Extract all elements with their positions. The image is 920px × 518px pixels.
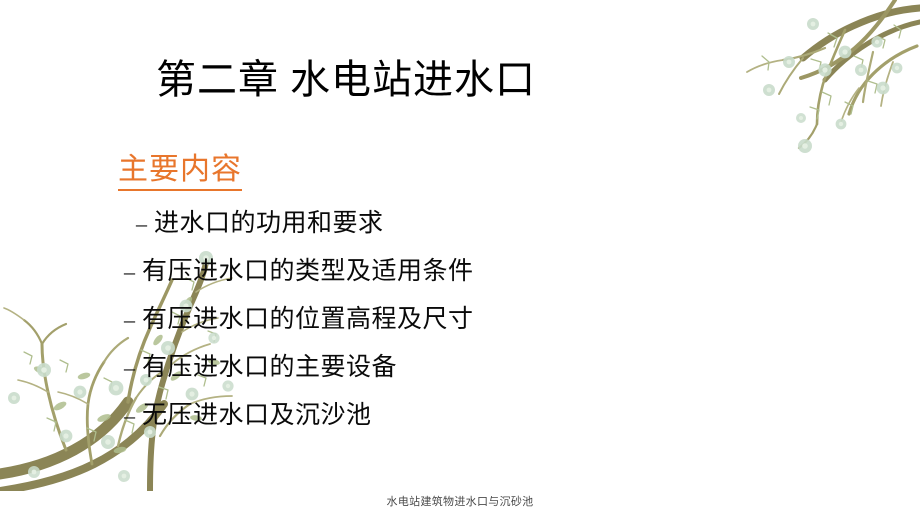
content-bullet-list: – 进水口的功用和要求 – 有压进水口的类型及适用条件 – 有压进水口的位置高程… [124,211,644,451]
list-item-label: 无压进水口及沉沙池 [142,403,372,428]
section-heading-main-content: 主要内容 [118,152,242,191]
list-item: – 进水口的功用和要求 [124,211,644,259]
footer-strip: 水电站建筑物进水口与沉砂池 [0,491,920,518]
branch-blossom-icon-top-right [725,0,920,170]
list-item: – 有压进水口的主要设备 [124,355,644,403]
footer-caption: 水电站建筑物进水口与沉砂池 [0,493,920,509]
list-item: – 有压进水口的位置高程及尺寸 [124,307,644,355]
list-item: – 无压进水口及沉沙池 [124,403,644,451]
list-item: – 有压进水口的类型及适用条件 [124,259,644,307]
presentation-slide-page: 第二章 水电站进水口 主要内容 – 进水口的功用和要求 – 有压进水口的类型及适… [0,0,920,518]
slide-canvas: 第二章 水电站进水口 主要内容 – 进水口的功用和要求 – 有压进水口的类型及适… [0,0,920,491]
dash-bullet-icon: – [136,213,147,235]
list-item-label: 进水口的功用和要求 [154,211,384,236]
dash-bullet-icon: – [124,309,135,331]
list-item-label: 有压进水口的主要设备 [142,355,397,380]
dash-bullet-icon: – [124,261,135,283]
slide-title: 第二章 水电站进水口 [156,57,536,103]
list-item-label: 有压进水口的位置高程及尺寸 [142,307,474,332]
dash-bullet-icon: – [124,405,135,427]
dash-bullet-icon: – [124,357,135,379]
list-item-label: 有压进水口的类型及适用条件 [142,259,474,284]
